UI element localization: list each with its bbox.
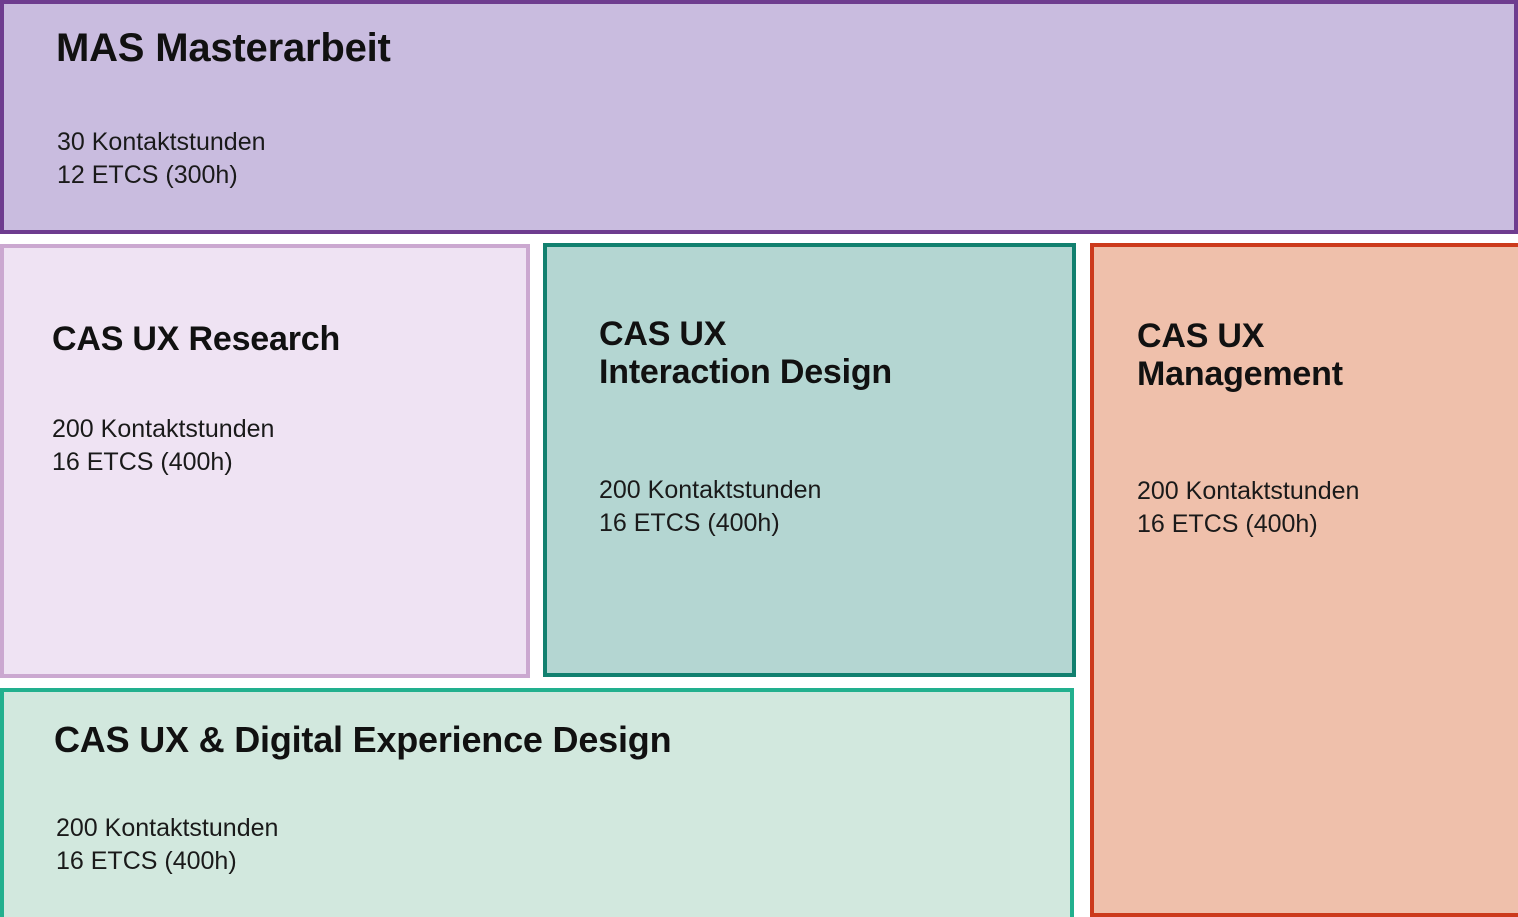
program-box-title: CAS UX Research [52, 320, 340, 358]
contact-hours-label: 30 Kontaktstunden [57, 126, 266, 159]
credits-label: 16 ETCS (400h) [599, 507, 821, 540]
credits-label: 16 ETCS (400h) [52, 446, 274, 479]
program-box-title: CAS UX Interaction Design [599, 315, 892, 391]
contact-hours-label: 200 Kontaktstunden [599, 474, 821, 507]
program-box-title: CAS UX Management [1137, 317, 1343, 393]
program-box-cas-ux-management: CAS UX Management 200 Kontaktstunden 16 … [1090, 243, 1518, 917]
program-box-meta: 200 Kontaktstunden 16 ETCS (400h) [52, 413, 274, 478]
program-box-title: CAS UX & Digital Experience Design [54, 720, 671, 760]
program-box-meta: 200 Kontaktstunden 16 ETCS (400h) [1137, 475, 1359, 540]
program-box-cas-ux-interaction-design: CAS UX Interaction Design 200 Kontaktstu… [543, 243, 1076, 677]
program-structure-diagram: MAS Masterarbeit 30 Kontaktstunden 12 ET… [0, 0, 1518, 917]
contact-hours-label: 200 Kontaktstunden [1137, 475, 1359, 508]
program-box-cas-ux-digital-experience-design: CAS UX & Digital Experience Design 200 K… [0, 688, 1074, 917]
program-box-mas-masterarbeit: MAS Masterarbeit 30 Kontaktstunden 12 ET… [0, 0, 1518, 234]
contact-hours-label: 200 Kontaktstunden [56, 812, 278, 845]
program-box-meta: 200 Kontaktstunden 16 ETCS (400h) [599, 474, 821, 539]
program-box-meta: 200 Kontaktstunden 16 ETCS (400h) [56, 812, 278, 877]
credits-label: 12 ETCS (300h) [57, 159, 266, 192]
contact-hours-label: 200 Kontaktstunden [52, 413, 274, 446]
program-box-title: MAS Masterarbeit [56, 26, 391, 71]
credits-label: 16 ETCS (400h) [56, 845, 278, 878]
program-box-cas-ux-research: CAS UX Research 200 Kontaktstunden 16 ET… [0, 244, 530, 678]
program-box-meta: 30 Kontaktstunden 12 ETCS (300h) [57, 126, 266, 191]
credits-label: 16 ETCS (400h) [1137, 508, 1359, 541]
